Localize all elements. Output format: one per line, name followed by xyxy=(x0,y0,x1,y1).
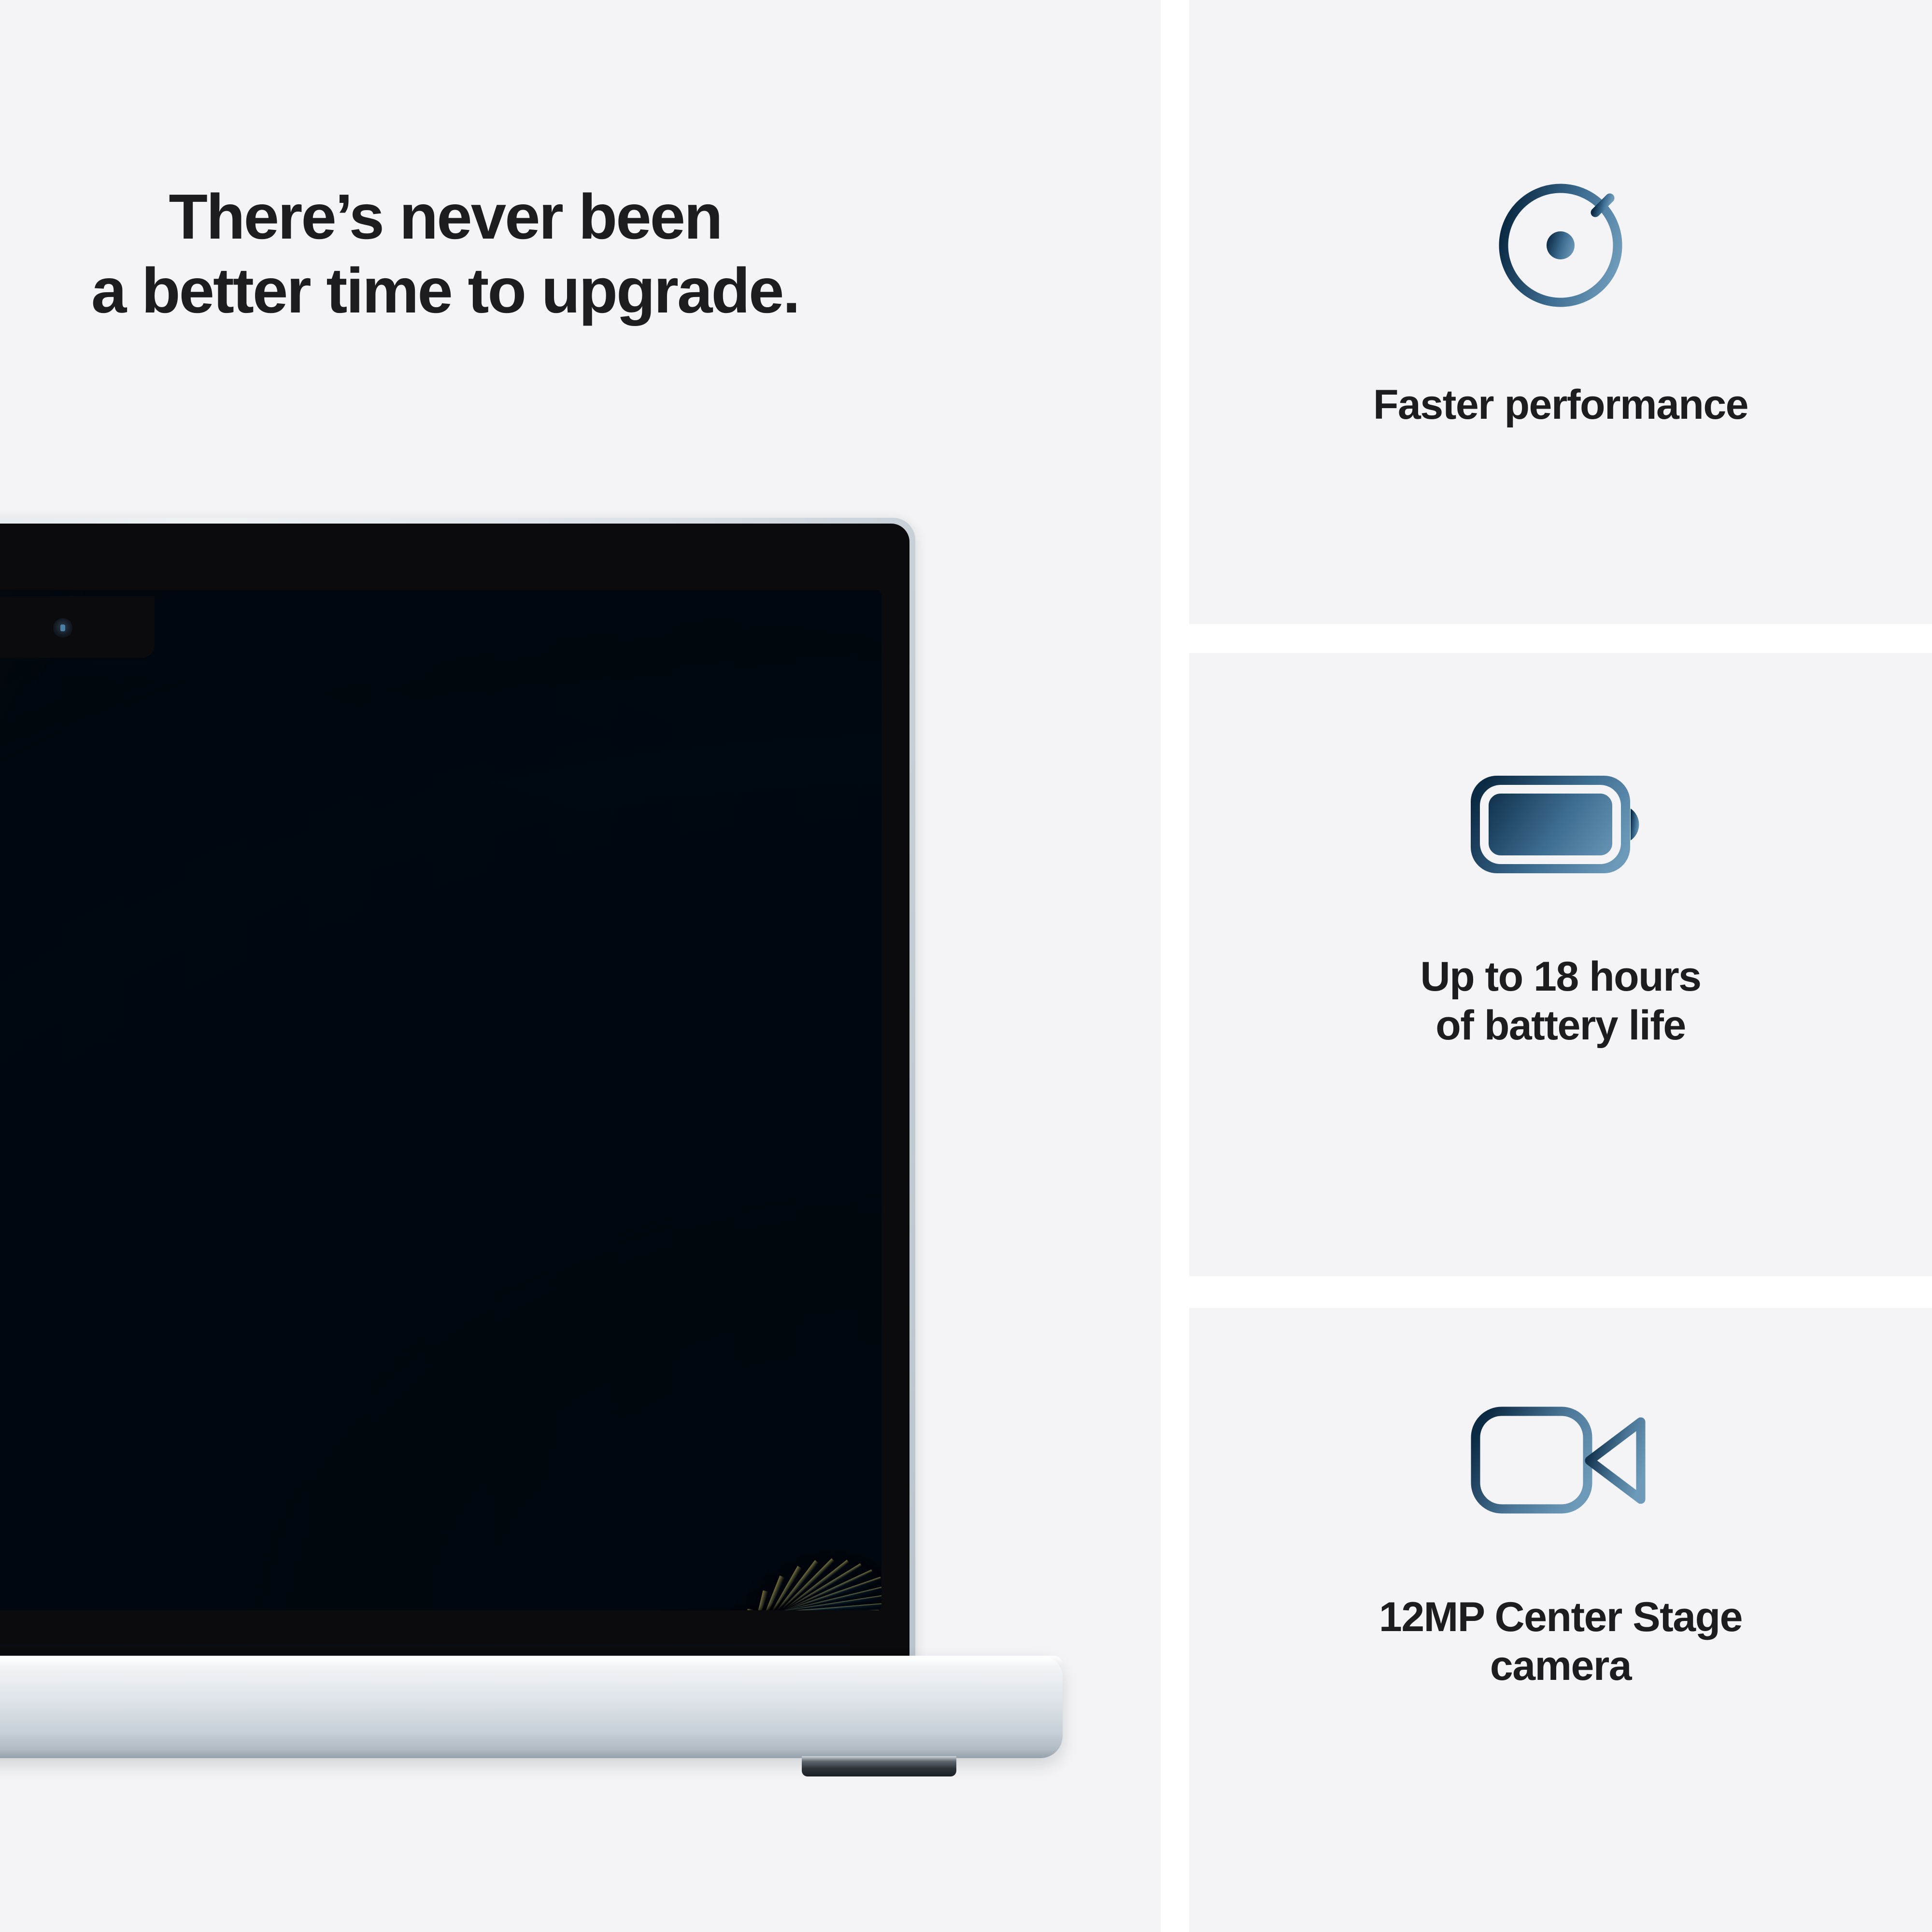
headline-line-1: There’s never been xyxy=(0,180,890,254)
wallpaper-blade xyxy=(0,1563,881,1610)
wallpaper-blade xyxy=(0,1561,881,1610)
wallpaper-blade xyxy=(0,1558,881,1610)
blade-edge-highlight xyxy=(0,1569,881,1610)
macbook-air-product-image xyxy=(0,518,918,1687)
wallpaper-blade xyxy=(0,1590,881,1610)
feature-card-camera: 12MP Center Stage camera xyxy=(1189,1308,1932,1932)
wallpaper-blade xyxy=(0,1581,881,1610)
laptop-lid xyxy=(0,518,915,1677)
blade-edge-highlight xyxy=(0,1563,881,1610)
blade-edge-highlight xyxy=(0,1566,881,1610)
product-feature-layout: There’s never been a better time to upgr… xyxy=(0,0,1932,1932)
wallpaper-blade xyxy=(0,1566,881,1610)
wallpaper-blade xyxy=(0,1566,881,1610)
feature-label-line-1: 12MP Center Stage xyxy=(1379,1593,1742,1642)
feature-label-line-2: camera xyxy=(1379,1642,1742,1690)
video-camera-icon xyxy=(1469,1405,1652,1516)
feature-label-line-2: of battery life xyxy=(1420,1001,1701,1050)
wallpaper-blade xyxy=(0,1559,881,1610)
blade-edge-highlight xyxy=(0,1577,881,1610)
laptop-base xyxy=(0,1656,1063,1758)
feature-card-performance: Faster performance xyxy=(1189,0,1932,624)
blade-edge-highlight xyxy=(0,1558,881,1610)
battery-icon xyxy=(1464,769,1657,880)
display-notch xyxy=(0,596,155,658)
blade-edge-highlight xyxy=(0,1585,881,1610)
front-camera-icon xyxy=(53,618,72,638)
blade-edge-highlight xyxy=(0,1560,881,1610)
headline-line-2: a better time to upgrade. xyxy=(0,254,890,327)
laptop-screen xyxy=(0,590,881,1610)
wallpaper-blade xyxy=(0,1560,881,1610)
wallpaper-fan-graphic xyxy=(0,590,881,1610)
hero-panel: There’s never been a better time to upgr… xyxy=(0,0,1161,1932)
feature-label-performance: Faster performance xyxy=(1373,381,1748,429)
wallpaper-blade xyxy=(0,1585,881,1610)
wallpaper-blade xyxy=(0,1570,881,1610)
wallpaper-blade xyxy=(0,1577,881,1610)
feature-card-battery: Up to 18 hours of battery life xyxy=(1189,653,1932,1276)
feature-label-line-1: Faster performance xyxy=(1373,381,1748,429)
blade-edge-highlight xyxy=(0,1594,881,1610)
feature-label-battery: Up to 18 hours of battery life xyxy=(1420,952,1701,1051)
wallpaper-blade xyxy=(0,1559,881,1610)
feature-label-camera: 12MP Center Stage camera xyxy=(1379,1593,1742,1691)
page-title: There’s never been a better time to upgr… xyxy=(0,180,1161,327)
display-bezel xyxy=(0,524,909,1671)
wallpaper-blade xyxy=(0,1569,881,1610)
blade-edge-highlight xyxy=(0,1560,881,1610)
feature-label-line-1: Up to 18 hours xyxy=(1420,952,1701,1001)
wallpaper-blade xyxy=(0,1573,881,1610)
stopwatch-icon xyxy=(1488,155,1633,309)
wallpaper-blade xyxy=(0,1594,881,1610)
wallpaper-blade xyxy=(0,1560,881,1610)
blade-edge-highlight xyxy=(0,1576,881,1610)
wallpaper-blade xyxy=(0,1598,881,1610)
wallpaper-blade xyxy=(0,1563,881,1610)
base-top-highlight xyxy=(0,1656,1063,1664)
feature-card-column: Faster performance Up to 18 hours xyxy=(1189,0,1932,1932)
rubber-foot xyxy=(802,1756,956,1776)
wallpaper-blade xyxy=(0,1576,881,1610)
